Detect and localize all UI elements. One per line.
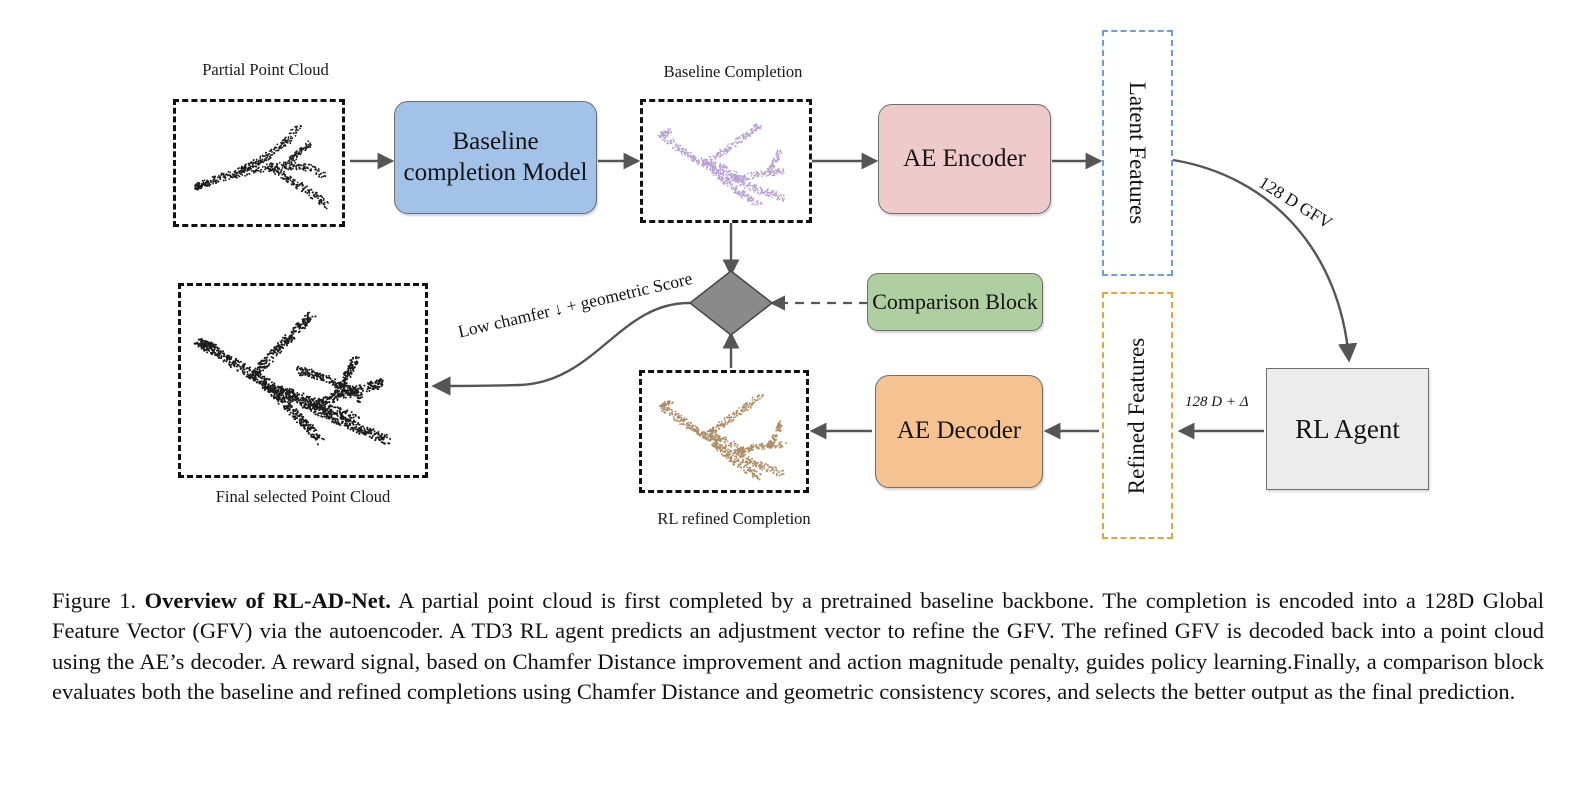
figure-page: Partial Point Cloud Baseline completion …	[0, 0, 1595, 789]
score-edge-label: Low chamfer ↓ + geometric Score	[456, 268, 694, 342]
ae-decoder-box[interactable]: AE Decoder	[875, 375, 1043, 488]
final-point-cloud-label: Final selected Point Cloud	[178, 487, 428, 507]
figure-caption-label: Figure 1.	[52, 588, 136, 613]
refined-features-label: Refined Features	[1125, 337, 1151, 493]
rl-refined-completion-frame	[639, 370, 809, 493]
gfv-edge-label: 128 D GFV	[1255, 172, 1336, 234]
rl-refined-completion-label: RL refined Completion	[634, 509, 834, 529]
ae-encoder-box[interactable]: AE Encoder	[878, 104, 1051, 214]
baseline-completion-plot	[643, 102, 809, 222]
comparison-block-box[interactable]: Comparison Block	[867, 273, 1043, 331]
rl-agent-label: RL Agent	[1295, 414, 1400, 445]
baseline-completion-label: Baseline Completion	[643, 62, 823, 82]
ae-encoder-label: AE Encoder	[903, 144, 1026, 175]
final-point-cloud-frame	[178, 283, 428, 478]
delta-edge-label: 128 D + Δ	[1185, 394, 1249, 411]
comparison-block-label: Comparison Block	[872, 289, 1038, 316]
partial-point-cloud-frame	[173, 99, 345, 227]
baseline-completion-frame	[640, 99, 812, 223]
figure-caption-title: Overview of RL-AD-Net.	[145, 588, 391, 613]
baseline-completion-model-label: Baseline completion Model	[395, 127, 596, 188]
selector-diamond-shape	[690, 271, 772, 335]
partial-point-cloud-plot	[176, 102, 342, 226]
figure-caption: Figure 1. Overview of RL-AD-Net. A parti…	[52, 586, 1544, 707]
rl-agent-box[interactable]: RL Agent	[1266, 368, 1429, 490]
partial-point-cloud-label: Partial Point Cloud	[178, 60, 353, 80]
final-point-cloud-plot	[181, 286, 425, 476]
latent-features-label: Latent Features	[1125, 82, 1151, 224]
refined-features-box: Refined Features	[1102, 292, 1173, 539]
latent-features-box: Latent Features	[1102, 30, 1173, 276]
baseline-completion-model-box[interactable]: Baseline completion Model	[394, 101, 597, 214]
ae-decoder-label: AE Decoder	[897, 416, 1021, 447]
rl-refined-completion-plot	[642, 373, 806, 492]
